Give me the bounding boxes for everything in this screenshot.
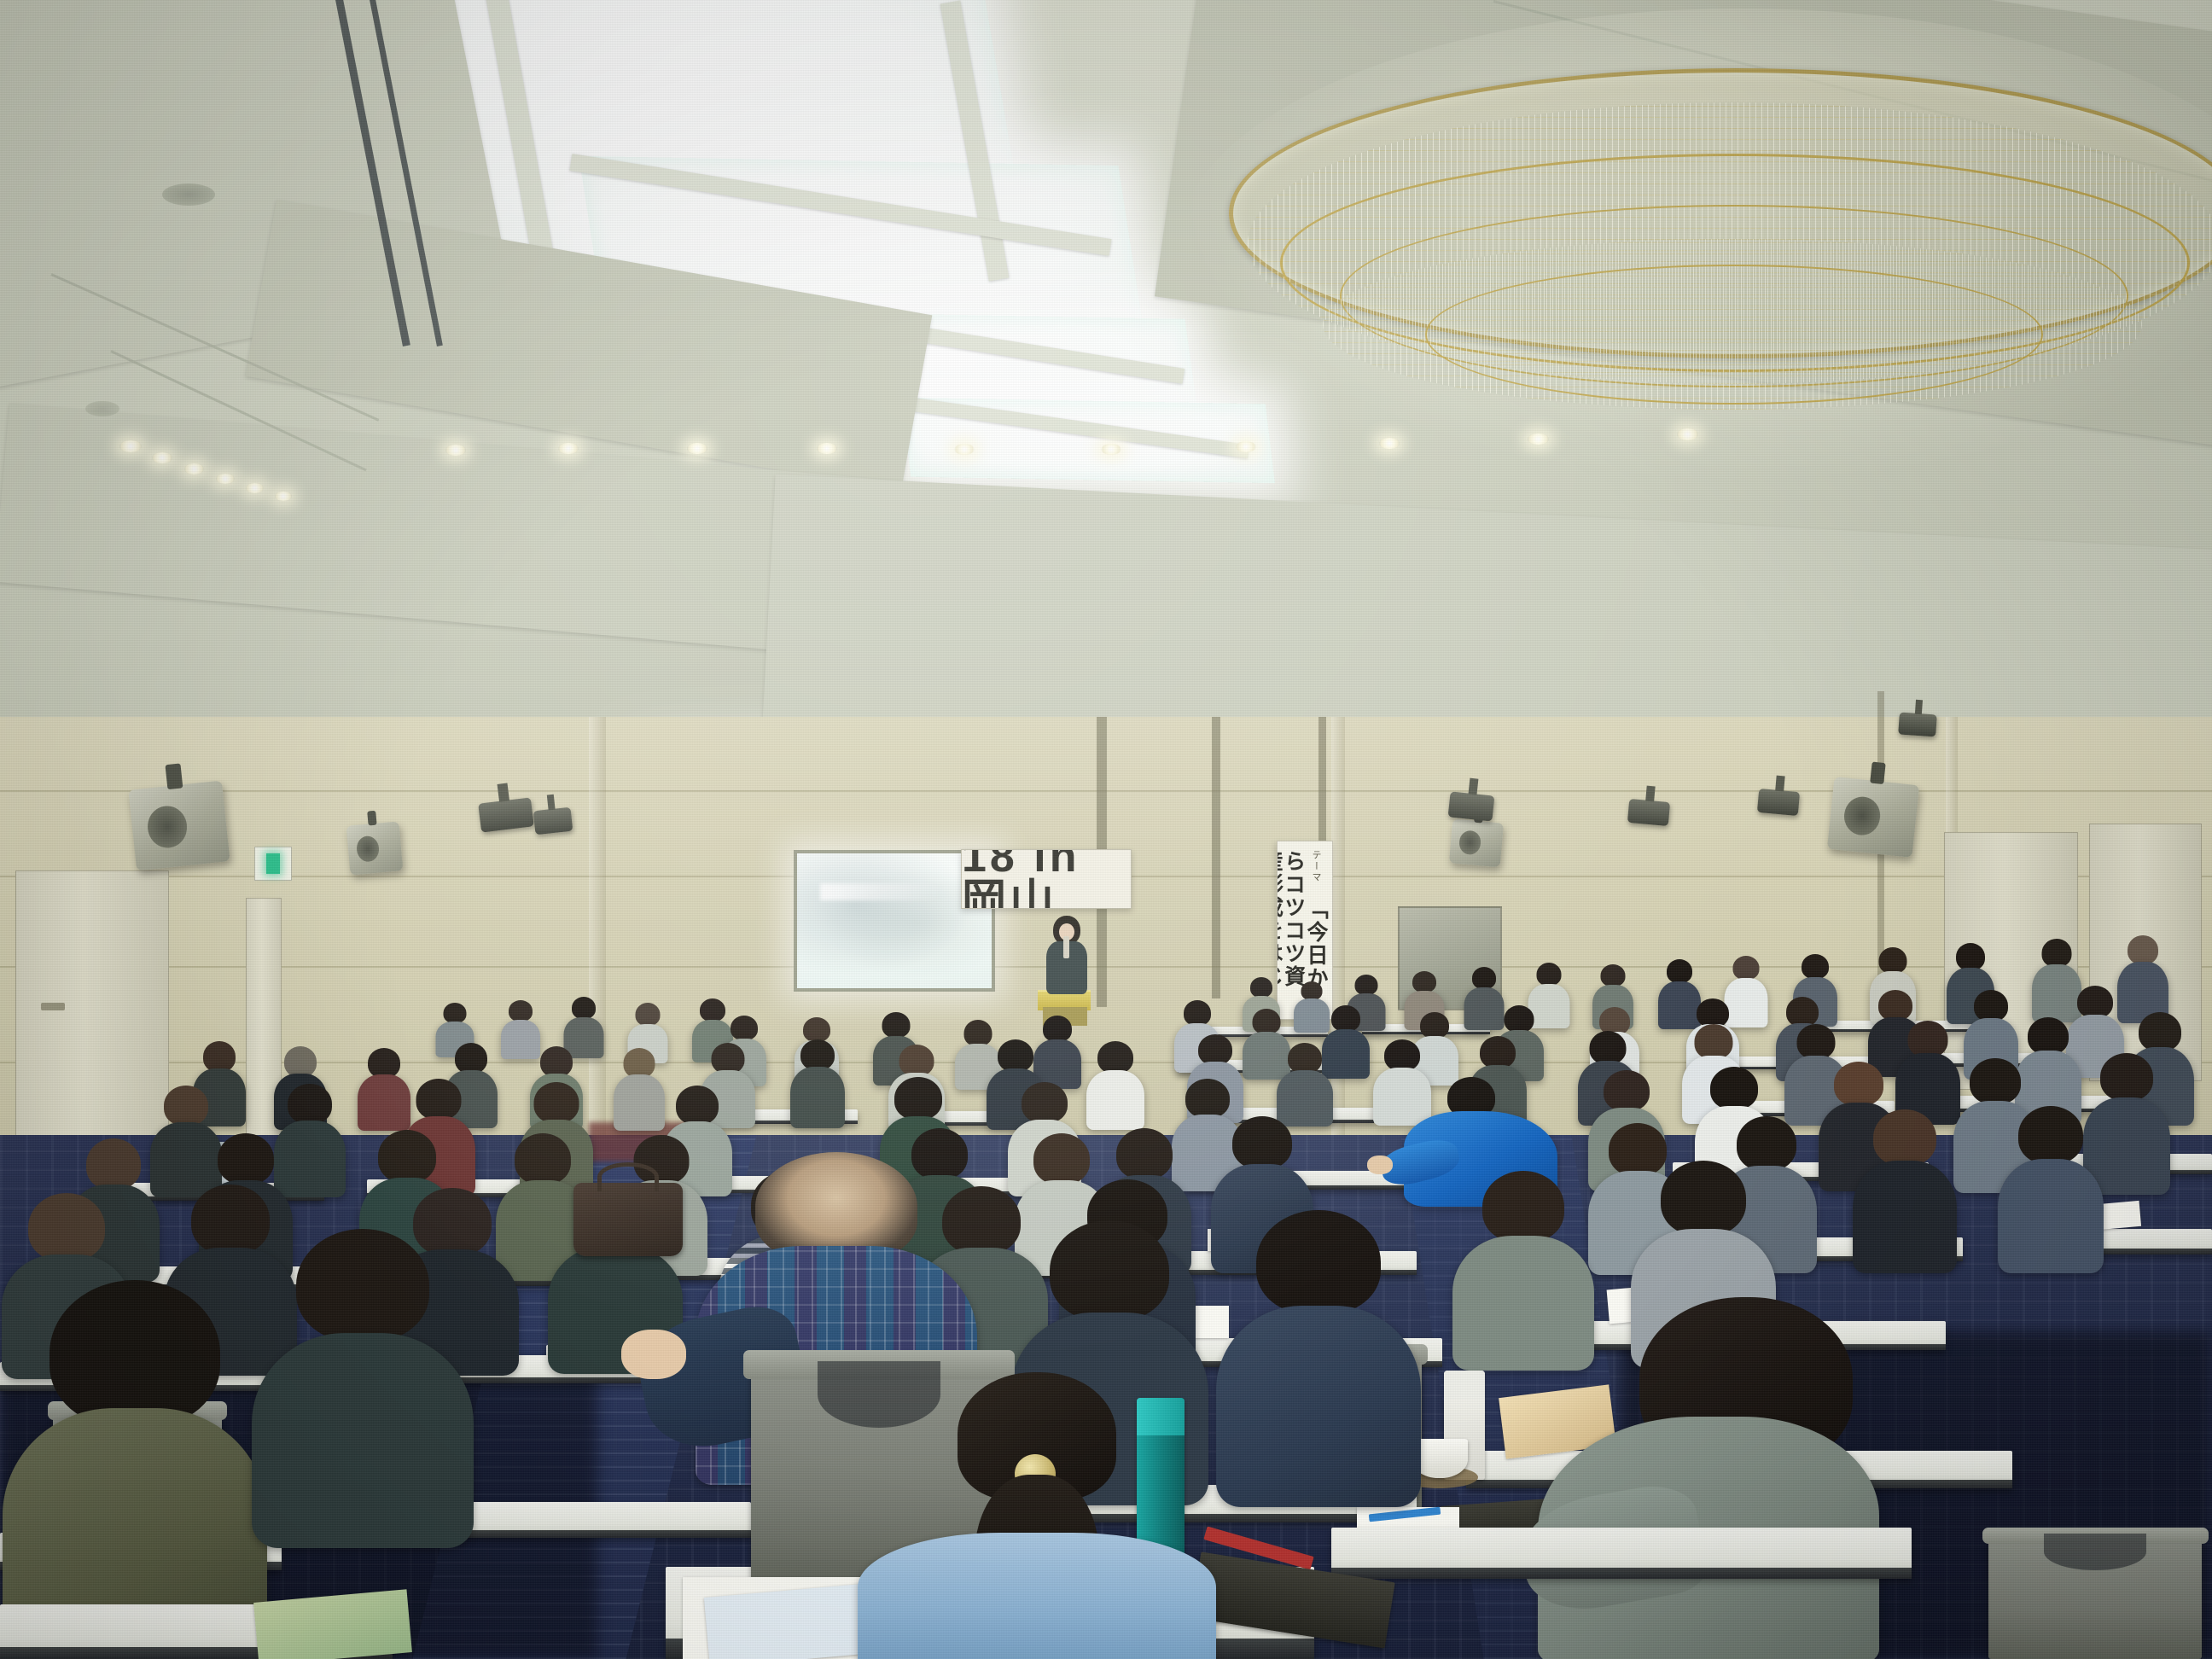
audience-member [789,1039,846,1126]
hair [296,1229,429,1342]
hair [755,1152,917,1261]
downlight-11 [954,444,975,455]
hair [455,1043,487,1074]
speaker-cone-left [145,804,189,850]
chair-notch [2044,1534,2146,1570]
hand [1367,1155,1393,1174]
track-spotlight-right-3 [1757,789,1800,816]
hair [444,1003,467,1023]
hair [998,1039,1033,1072]
hair [28,1193,105,1261]
hair [1198,1034,1232,1065]
hair [2018,1106,2083,1164]
track-spotlight-right-4 [1898,712,1937,736]
hair [1022,1082,1068,1123]
hair [803,1017,830,1042]
hair [882,1012,911,1038]
hair [416,1079,462,1120]
speaker-mount-left [166,764,183,789]
projection-slide-text [820,883,940,901]
hair [218,1133,274,1185]
woman-blue-sweater-ponytail [853,1372,1220,1659]
wall-speaker-right [1827,777,1919,858]
hair [1253,1009,1281,1034]
door-left-wide[interactable] [15,870,169,1145]
stage-banner-headline: 18 in 岡山 [962,849,1131,909]
hair [1590,1031,1627,1064]
vertical-banner-theme-label: テーマ [1311,850,1321,883]
downlight-7 [445,445,466,456]
spotlight-arm-right-1 [1468,778,1478,795]
hair [1879,947,1907,974]
hair [894,1077,942,1120]
downlight-10 [817,443,837,454]
torso [1853,1161,1957,1273]
spotlight-arm-right-4 [1914,700,1923,714]
downlight-12 [1101,444,1121,455]
hair [1970,1058,2021,1104]
downlight-8 [558,443,579,454]
torso [1998,1159,2104,1273]
hair [1043,1016,1072,1042]
hair [731,1016,758,1040]
hair [2028,1017,2069,1055]
hair [1604,1070,1650,1111]
exit-arrow-glyph [266,853,279,874]
downlight-4 [216,474,235,484]
presenter-on-stage [1038,916,1096,1001]
hair [1033,1133,1090,1185]
hair [1797,1024,1836,1059]
door-left-handle[interactable] [41,1003,65,1010]
hair [378,1130,436,1183]
hair [800,1039,835,1070]
seminar-booklet [253,1589,412,1659]
audience-member [1086,1041,1145,1128]
hair [712,1043,745,1074]
hair [284,1046,317,1077]
photograph-seminar-hall: うまく 18 in 岡山 日時 会場 あなたのお金の教室 テーマ 「今日からコツ… [0,0,2212,1659]
hair [1097,1041,1133,1074]
hair [49,1280,220,1427]
hair [1786,997,1819,1027]
audience-member [1276,1043,1334,1125]
hair [1974,990,2008,1022]
wall-speaker-left-2 [346,821,404,875]
downlight-9 [687,443,707,454]
hair [624,1048,655,1078]
hair [676,1086,719,1125]
torso [1216,1306,1421,1507]
ceiling-smoke-detector [162,183,215,206]
bag-handle [597,1162,659,1191]
hair [1250,977,1272,998]
exit-sign-icon [254,847,292,881]
spotlight-arm-right-3 [1775,776,1784,791]
spotlight-arm-left-2 [546,795,556,810]
audience-member [1997,1106,2104,1270]
hair [288,1084,332,1124]
hair [1331,1005,1360,1032]
handbag-brown [573,1183,683,1256]
hair [509,1000,533,1022]
hair [515,1133,571,1185]
presenter-microphone [1063,936,1069,958]
hair [1733,956,1760,980]
hair [1288,1043,1322,1074]
hair [2128,935,2158,964]
hair [1420,1012,1449,1039]
hair [203,1041,236,1072]
spotlight-arm-right-2 [1645,786,1655,801]
downlight-2 [152,452,172,463]
hair [1802,954,1829,979]
torso [858,1533,1216,1659]
downlight-5 [246,483,264,493]
stage-banner-horizontal: うまく 18 in 岡山 日時 会場 あなたのお金の教室 [961,849,1132,909]
chandelier-gold-ring-3 [1425,265,2043,405]
woman-gray-sweater-right [1536,1297,1912,1659]
speaker-mount-left-2 [367,811,376,826]
spotlight-arm-left-1 [497,783,509,801]
main-chandelier [1229,51,2212,452]
table-edge [1331,1568,1912,1579]
audience-member [247,1229,478,1545]
hair [1384,1039,1420,1071]
hair [1695,1024,1733,1059]
speaker-cone-right [1842,795,1882,836]
chair-row4-far-right[interactable] [1988,1536,2202,1659]
hair [1834,1062,1883,1106]
audience-member [613,1048,666,1128]
hair [2100,1053,2153,1101]
hair [534,1082,579,1123]
hair [1472,967,1496,989]
wall-speaker-right-2 [1449,818,1504,867]
torso [252,1333,474,1548]
torso [614,1074,665,1131]
hair [1505,1005,1534,1033]
hair [572,997,596,1019]
hair [1355,975,1378,995]
hair [1184,1000,1211,1026]
downlight-3 [184,463,204,474]
hair [1050,1220,1169,1321]
hair [1878,990,1912,1021]
hair [1667,959,1692,983]
hair [1482,1171,1564,1243]
wall-seam-dark-2 [1212,717,1220,998]
hair [1873,1109,1936,1166]
hair [1116,1128,1173,1179]
torso [1086,1070,1144,1130]
hair [1185,1079,1230,1118]
hair [1480,1036,1516,1068]
hair [899,1045,934,1076]
hair [1697,998,1729,1027]
thermos-cap [1444,1371,1485,1400]
hair [636,1003,661,1026]
woman-olive-coat [0,1280,282,1659]
hair [86,1138,141,1190]
hair [1537,963,1562,986]
downlight-6 [275,492,292,501]
hair [2077,986,2113,1018]
hair [164,1086,208,1126]
speaker-mount-right [1870,761,1886,784]
hair [368,1048,400,1078]
hair [1710,1067,1758,1109]
hair [2042,939,2072,967]
hair [1301,981,1323,1000]
torso [790,1067,845,1128]
hair [1661,1161,1746,1236]
hair [1256,1210,1381,1314]
hair [1956,943,1985,970]
hair [1601,964,1626,987]
hair [1232,1116,1292,1169]
wall-speaker-left [128,781,230,871]
hair [2139,1012,2181,1051]
audience-member [1212,1210,1425,1504]
hair [540,1046,573,1077]
speaker-cone-left-2 [356,835,381,863]
table-row [1331,1528,1912,1579]
track-spotlight-right-2 [1627,799,1670,826]
hair [1908,1021,1948,1057]
speaker-cone-right-2 [1458,830,1481,855]
ceiling-vent [85,401,119,416]
track-spotlight-right-1 [1448,791,1495,821]
track-spotlight-left-2 [533,807,573,835]
hair [1412,971,1436,992]
downlight-1 [119,440,142,452]
hand [621,1330,686,1379]
audience-member [1852,1109,1958,1270]
